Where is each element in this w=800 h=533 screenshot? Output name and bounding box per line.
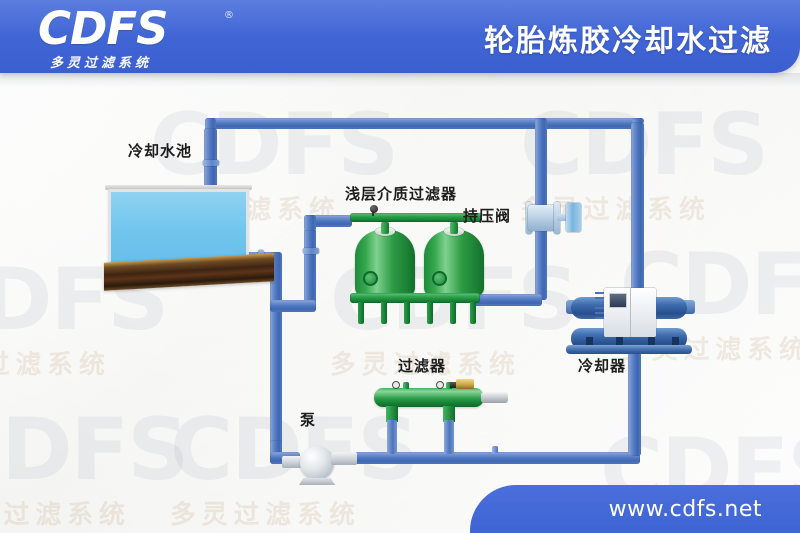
label-pump: 泵 [300,409,316,430]
label-cooler: 冷却器 [578,355,626,376]
filter-bottom-manifold [350,293,480,303]
cooler-fin [595,297,604,299]
cooler-fin [595,307,604,309]
cooler-fin [595,317,604,319]
filter-leg [404,302,410,324]
pipe-filter-outlet [470,294,542,306]
pipe-cooler-downcomer [631,122,644,300]
filter-leg [381,302,387,324]
filter-brass-fitting [456,379,474,389]
cooler-fin [595,302,604,304]
valve-actuator [566,203,581,232]
pipe-filter-feed-bend [304,215,316,231]
pipe-filter-feed-down [304,228,316,310]
pipe-loop-cross [270,300,316,312]
pipe-pool-riser [204,128,217,188]
filter-gauge-2 [436,381,444,389]
tank-riser-1 [381,222,389,234]
pump-base [299,478,335,485]
media-filter-tank-2 [424,230,484,296]
cooler-fin [595,312,604,314]
filter-leg [427,302,433,324]
filter-leg [358,302,364,324]
label-cooling-pool: 冷却水池 [128,140,192,161]
pump-discharge-flange [331,452,357,465]
pump-volute [300,446,334,480]
footer-bar: www.cdfs.net [470,485,800,533]
diagram-canvas: CDFS多灵过滤系统 CDFS多灵过滤系统 CDFS多灵过滤系统 CDFS多灵过… [0,0,800,533]
pipe-cooler-return [628,352,641,456]
label-media-filter: 浅层介质过滤器 [345,183,457,204]
tank-manhole [363,271,378,286]
filter-leg [450,302,456,324]
pipe-suction-down [270,252,282,452]
pipe-bottom-header [330,452,640,464]
pipe-top-main [205,118,643,129]
header-bar: CDFS ® 多灵过滤系统 轮胎炼胶冷却水过滤 [0,0,800,73]
watermark-tile: CDFS多灵过滤系统 [0,400,187,531]
page-title: 轮胎炼胶冷却水过滤 [484,16,772,60]
header-branch-stub [492,446,498,453]
footer-website-url[interactable]: www.cdfs.net [609,497,762,522]
registered-trademark-icon: ® [224,10,234,21]
filter-gauge-1 [392,381,400,389]
filter-nozzle-1 [403,382,409,389]
pipe-collar [303,248,319,254]
label-filter: 过滤器 [398,355,446,376]
tank-riser-2 [450,222,458,234]
label-pressure-valve: 持压阀 [463,205,511,226]
filter-downpipe-1 [387,420,397,454]
cooler-base-header [566,345,692,354]
tank-manhole [432,271,447,286]
filter-downpipe-2 [444,420,454,454]
media-filter-tank-1 [355,230,415,296]
logo-wordmark: CDFS [38,6,238,51]
brand-logo[interactable]: CDFS ® 多灵过滤系统 [38,6,238,68]
horizontal-filter-nozzle-end [481,392,508,403]
pipe-collar [203,160,219,166]
cooler-fin [595,292,604,294]
logo-subtitle: 多灵过滤系统 [50,52,152,71]
filter-leg [470,302,476,324]
horizontal-filter-body [374,388,484,407]
cooler-cabinet-door-split [630,288,631,337]
header-shadow [0,73,800,87]
filter-vent-stem [372,211,374,216]
cooler-display-screen [610,294,626,307]
